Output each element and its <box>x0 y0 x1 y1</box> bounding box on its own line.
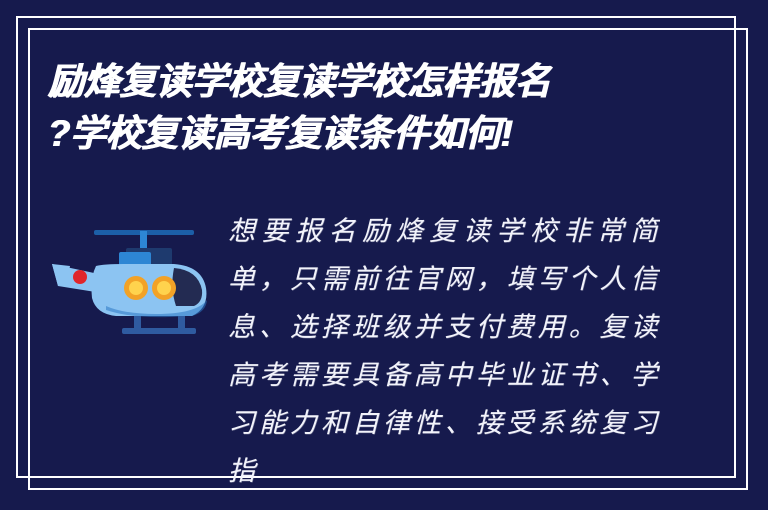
title-line-2: ?学校复读高考复读条件如何! <box>48 108 591 160</box>
title-line-1: 励烽复读学校复读学校怎样报名 <box>48 56 591 108</box>
body-paragraph: 想要报名励烽复读学校非常简单，只需前往官网，填写个人信息、选择班级并支付费用。复… <box>228 208 660 496</box>
poster-body: 想要报名励烽复读学校非常简单，只需前往官网，填写个人信息、选择班级并支付费用。复… <box>228 208 660 496</box>
helicopter-icon <box>46 214 222 342</box>
poster-canvas: 励烽复读学校复读学校怎样报名 ?学校复读高考复读条件如何! 想要报名励烽复读学校… <box>0 0 768 510</box>
poster-title: 励烽复读学校复读学校怎样报名 ?学校复读高考复读条件如何! <box>48 56 608 160</box>
